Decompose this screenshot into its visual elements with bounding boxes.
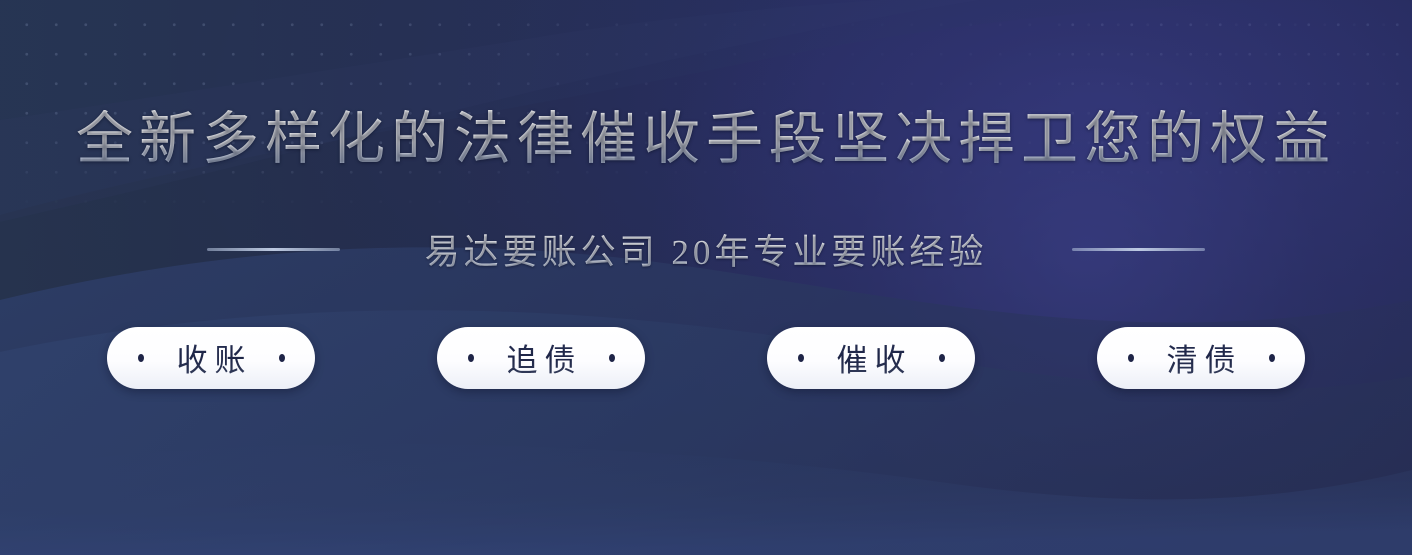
pill-label: 收账 <box>170 335 253 380</box>
pill-button-cuishou[interactable]: 催收 <box>767 327 975 389</box>
pill-button-zhuizhai[interactable]: 追债 <box>437 327 645 389</box>
page-title: 全新多样化的法律催收手段坚决捍卫您的权益 <box>76 110 1336 170</box>
bullet-dot-icon <box>468 354 474 362</box>
subtitle-row: 易达要账公司 20年专业要账经验 <box>207 224 1206 275</box>
bullet-dot-icon <box>939 354 945 362</box>
pill-label: 清债 <box>1160 335 1243 380</box>
subtitle: 易达要账公司 20年专业要账经验 <box>425 224 988 275</box>
bullet-dot-icon <box>1269 354 1275 362</box>
divider-line-left <box>207 248 340 251</box>
bullet-dot-icon <box>798 354 804 362</box>
service-pill-group: 收账 追债 催收 清债 <box>107 327 1305 389</box>
pill-label: 催收 <box>830 335 913 380</box>
bullet-dot-icon <box>609 354 615 362</box>
banner-content: 全新多样化的法律催收手段坚决捍卫您的权益 易达要账公司 20年专业要账经验 收账… <box>0 0 1412 555</box>
pill-label: 追债 <box>500 335 583 380</box>
bullet-dot-icon <box>138 354 144 362</box>
bullet-dot-icon <box>279 354 285 362</box>
divider-line-right <box>1072 248 1205 251</box>
pill-button-shouzhang[interactable]: 收账 <box>107 327 315 389</box>
bullet-dot-icon <box>1128 354 1134 362</box>
pill-button-qingzhai[interactable]: 清债 <box>1097 327 1305 389</box>
promo-banner: 全新多样化的法律催收手段坚决捍卫您的权益 易达要账公司 20年专业要账经验 收账… <box>0 0 1412 555</box>
